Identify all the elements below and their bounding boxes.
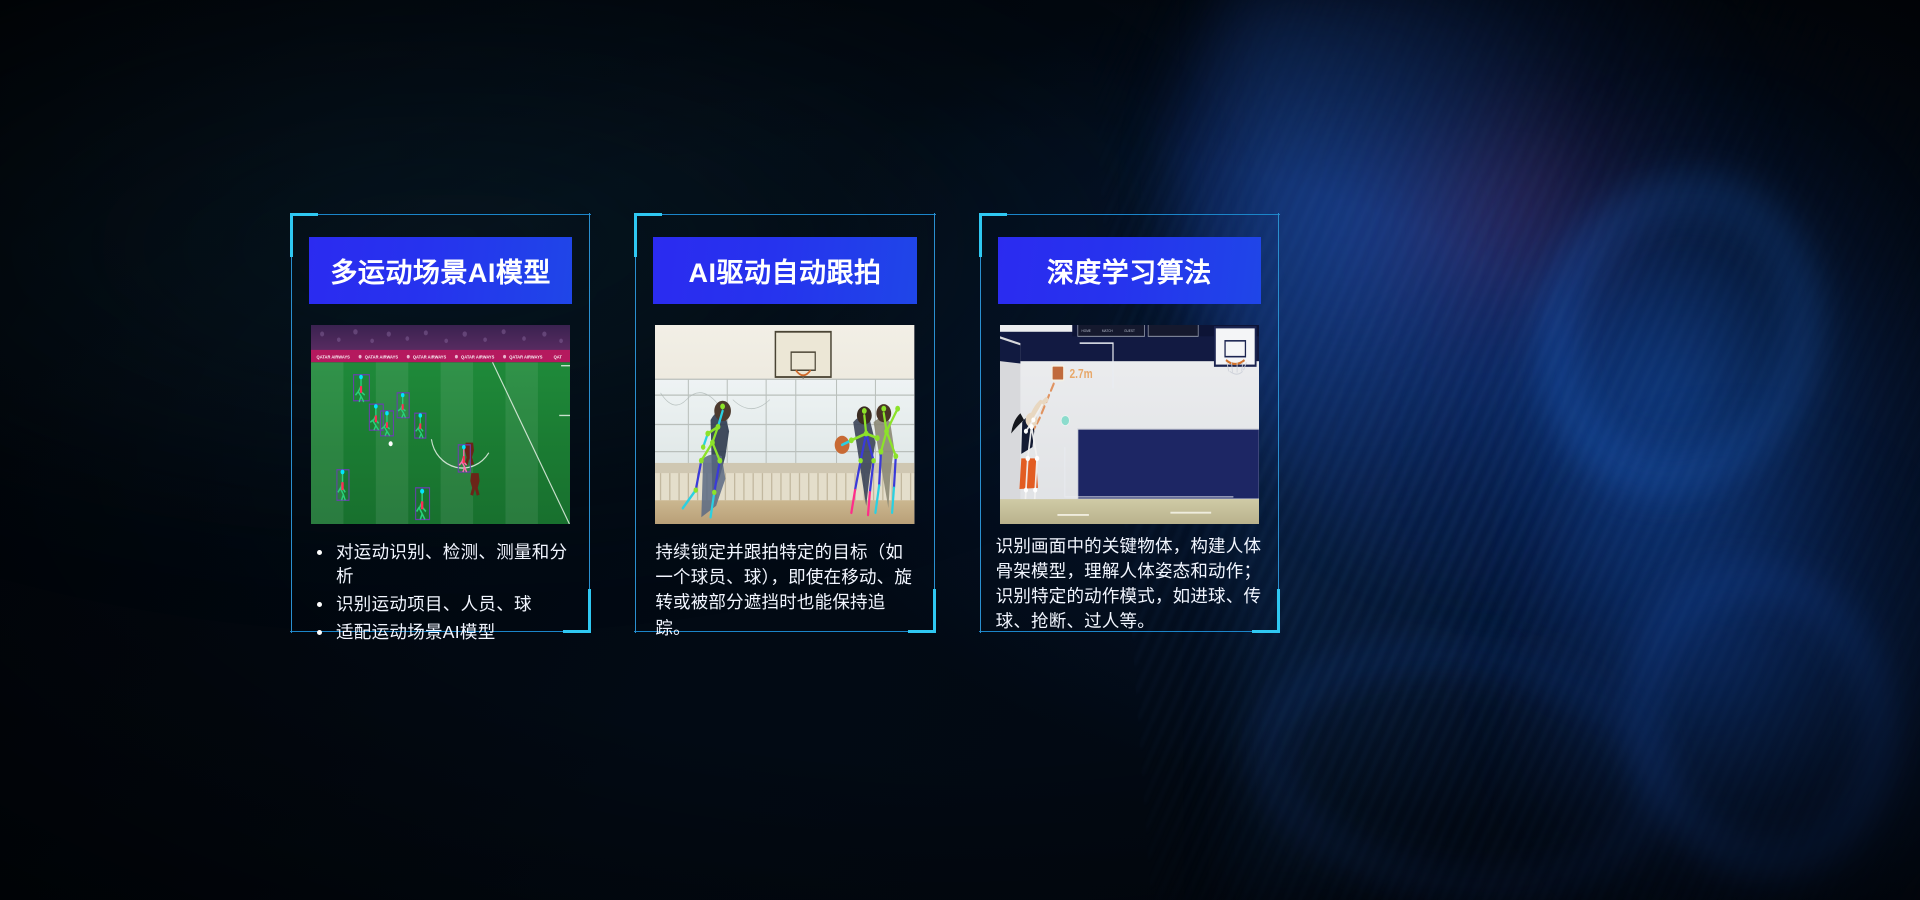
feature-card-deep-learning[interactable]: 深度学习算法: [979, 213, 1280, 633]
list-item: 对运动识别、检测、测量和分析: [311, 540, 576, 588]
gym-basketball-pose-image: [655, 325, 914, 524]
card-description: 持续锁定并跟拍特定的目标（如一个球员、球），即使在移动、旋转或被部分遮挡时也能保…: [655, 540, 920, 641]
svg-text:QAT: QAT: [554, 354, 562, 359]
feature-bullet-list: 对运动识别、检测、测量和分析 识别运动项目、人员、球 适配运动场景AI模型: [311, 540, 576, 645]
basketball-shot-tracking-image: HOMEMATCHGUEST: [1000, 325, 1259, 524]
card-description: 识别画面中的关键物体，构建人体骨架模型，理解人体姿态和动作；识别特定的动作模式，…: [996, 534, 1269, 633]
card-header: 多运动场景AI模型: [309, 237, 572, 304]
card-header: 深度学习算法: [998, 237, 1261, 304]
svg-text:HOME: HOME: [1081, 329, 1091, 333]
svg-text:QATAR AIRWAYS: QATAR AIRWAYS: [509, 354, 542, 359]
list-item: 适配运动场景AI模型: [311, 620, 576, 644]
svg-text:QATAR AIRWAYS: QATAR AIRWAYS: [413, 354, 446, 359]
list-item: 识别运动项目、人员、球: [311, 592, 576, 616]
feature-card-grid: 多运动场景AI模型: [290, 213, 1280, 633]
card-title: 深度学习算法: [1047, 251, 1212, 290]
card-header: AI驱动自动跟拍: [653, 237, 916, 304]
soccer-field-detection-image: QATAR AIRWAYS QATAR AIRWAYS QATAR AIRWAY…: [311, 325, 570, 524]
svg-text:QATAR AIRWAYS: QATAR AIRWAYS: [365, 354, 398, 359]
card-body: 持续锁定并跟拍特定的目标（如一个球员、球），即使在移动、旋转或被部分遮挡时也能保…: [655, 540, 920, 641]
feature-card-sports-ai-model[interactable]: 多运动场景AI模型: [290, 213, 591, 633]
card-title: 多运动场景AI模型: [330, 251, 551, 290]
card-title: AI驱动自动跟拍: [688, 251, 881, 290]
svg-text:GUEST: GUEST: [1124, 329, 1136, 333]
card-body: 识别画面中的关键物体，构建人体骨架模型，理解人体姿态和动作；识别特定的动作模式，…: [996, 534, 1269, 633]
card-body: 对运动识别、检测、测量和分析 识别运动项目、人员、球 适配运动场景AI模型: [311, 540, 576, 649]
distance-label: 2.7m: [1069, 368, 1092, 381]
svg-text:QATAR AIRWAYS: QATAR AIRWAYS: [461, 354, 494, 359]
svg-text:MATCH: MATCH: [1102, 329, 1113, 333]
feature-card-ai-auto-tracking[interactable]: AI驱动自动跟拍: [634, 213, 935, 633]
svg-text:QATAR AIRWAYS: QATAR AIRWAYS: [317, 354, 350, 359]
